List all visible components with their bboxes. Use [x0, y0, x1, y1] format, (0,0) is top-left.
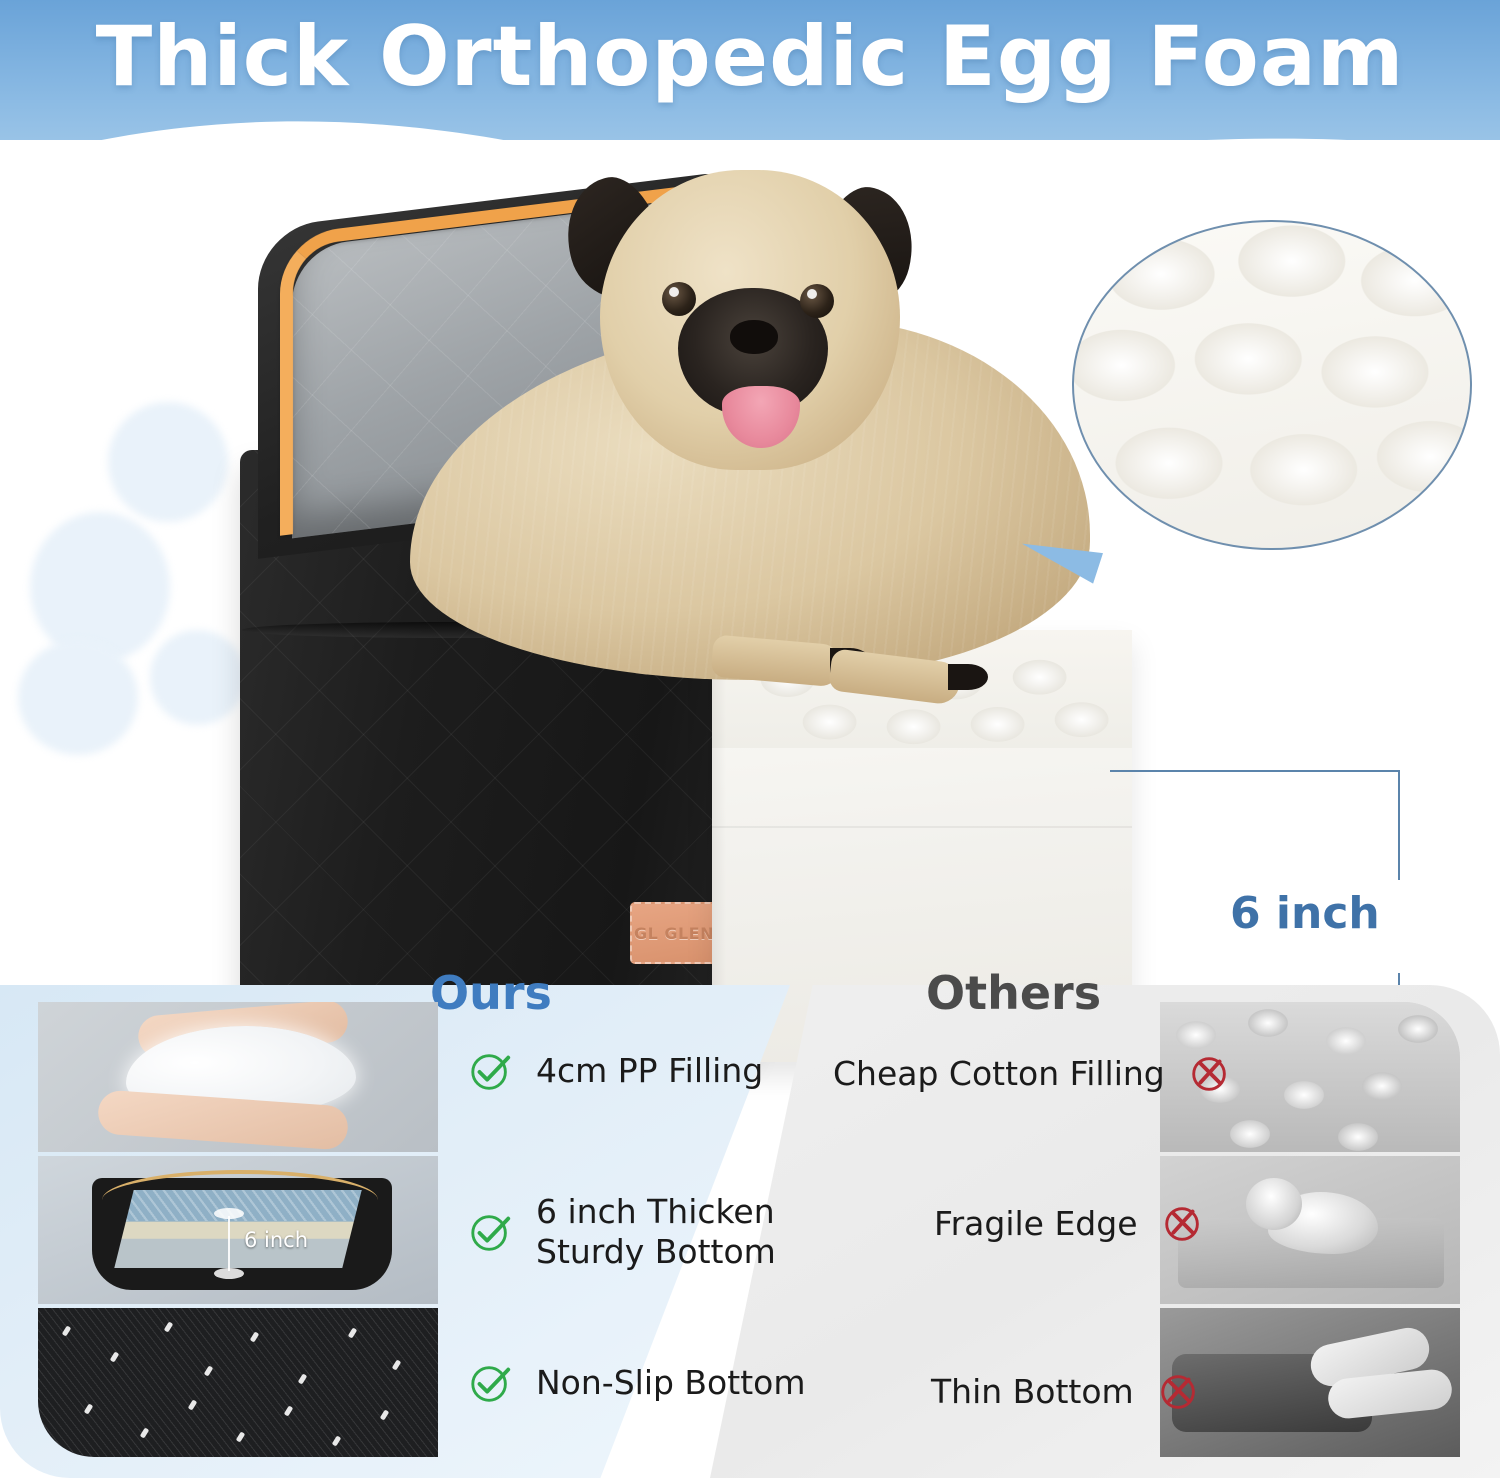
x-circle-icon — [1187, 1050, 1233, 1096]
dimension-connector — [228, 1216, 230, 1271]
ours-thumbnail-column: 6 inch — [38, 1002, 438, 1457]
feature-label: 4cm PP Filling — [536, 1051, 763, 1091]
dimension-label: 6 inch — [1230, 888, 1440, 939]
dimension-line-vertical-upper — [1398, 770, 1400, 880]
foam-layer-seam — [712, 826, 1132, 828]
dimension-marker-bottom — [214, 1268, 244, 1279]
dog-eye-right — [800, 284, 834, 318]
x-circle-icon — [1160, 1200, 1206, 1246]
feature-label: 6 inch Thicken Sturdy Bottom — [536, 1192, 776, 1273]
check-circle-icon — [468, 1209, 514, 1255]
feature-label: Thin Bottom — [931, 1372, 1134, 1411]
others-feature-row-1: Cheap Cotton Filling — [833, 1050, 1233, 1096]
x-circle-icon — [1156, 1368, 1202, 1414]
feature-label: Fragile Edge — [934, 1204, 1138, 1243]
thumbnail-dimension-label: 6 inch — [244, 1228, 308, 1252]
pug-dog-photo — [400, 170, 1160, 710]
dimension-line-top — [1110, 770, 1400, 772]
thumbnail-non-slip-bottom — [38, 1308, 438, 1457]
thumbnail-pp-filling — [38, 1002, 438, 1152]
corgi-head — [1246, 1178, 1302, 1230]
decorative-bubble — [18, 640, 138, 755]
dog-claw-right — [948, 664, 988, 690]
decorative-bubble — [30, 512, 170, 662]
ours-feature-row-1: 4cm PP Filling — [468, 1048, 763, 1094]
dog-eye-left — [662, 282, 696, 316]
foam-layers-diagram — [114, 1190, 361, 1268]
egg-foam-closeup-inset — [1072, 220, 1472, 550]
check-circle-icon — [468, 1360, 514, 1406]
ours-heading: Ours — [430, 966, 730, 1020]
feature-label: Non-Slip Bottom — [536, 1363, 805, 1403]
thumbnail-thin-bottom — [1160, 1308, 1460, 1457]
thumbnail-foam-thickness: 6 inch — [38, 1156, 438, 1304]
others-feature-row-3: Thin Bottom — [931, 1368, 1202, 1414]
ours-feature-row-3: Non-Slip Bottom — [468, 1360, 805, 1406]
others-feature-row-2: Fragile Edge — [934, 1200, 1206, 1246]
check-circle-icon — [468, 1048, 514, 1094]
ours-feature-row-2: 6 inch Thicken Sturdy Bottom — [468, 1192, 776, 1273]
infographic-page: Thick Orthopedic Egg Foam GL GLENS — [0, 0, 1500, 1478]
feature-label: Cheap Cotton Filling — [833, 1054, 1165, 1093]
hero-product-section: GL GLENS — [0, 140, 1500, 970]
dog-nose — [730, 320, 778, 354]
